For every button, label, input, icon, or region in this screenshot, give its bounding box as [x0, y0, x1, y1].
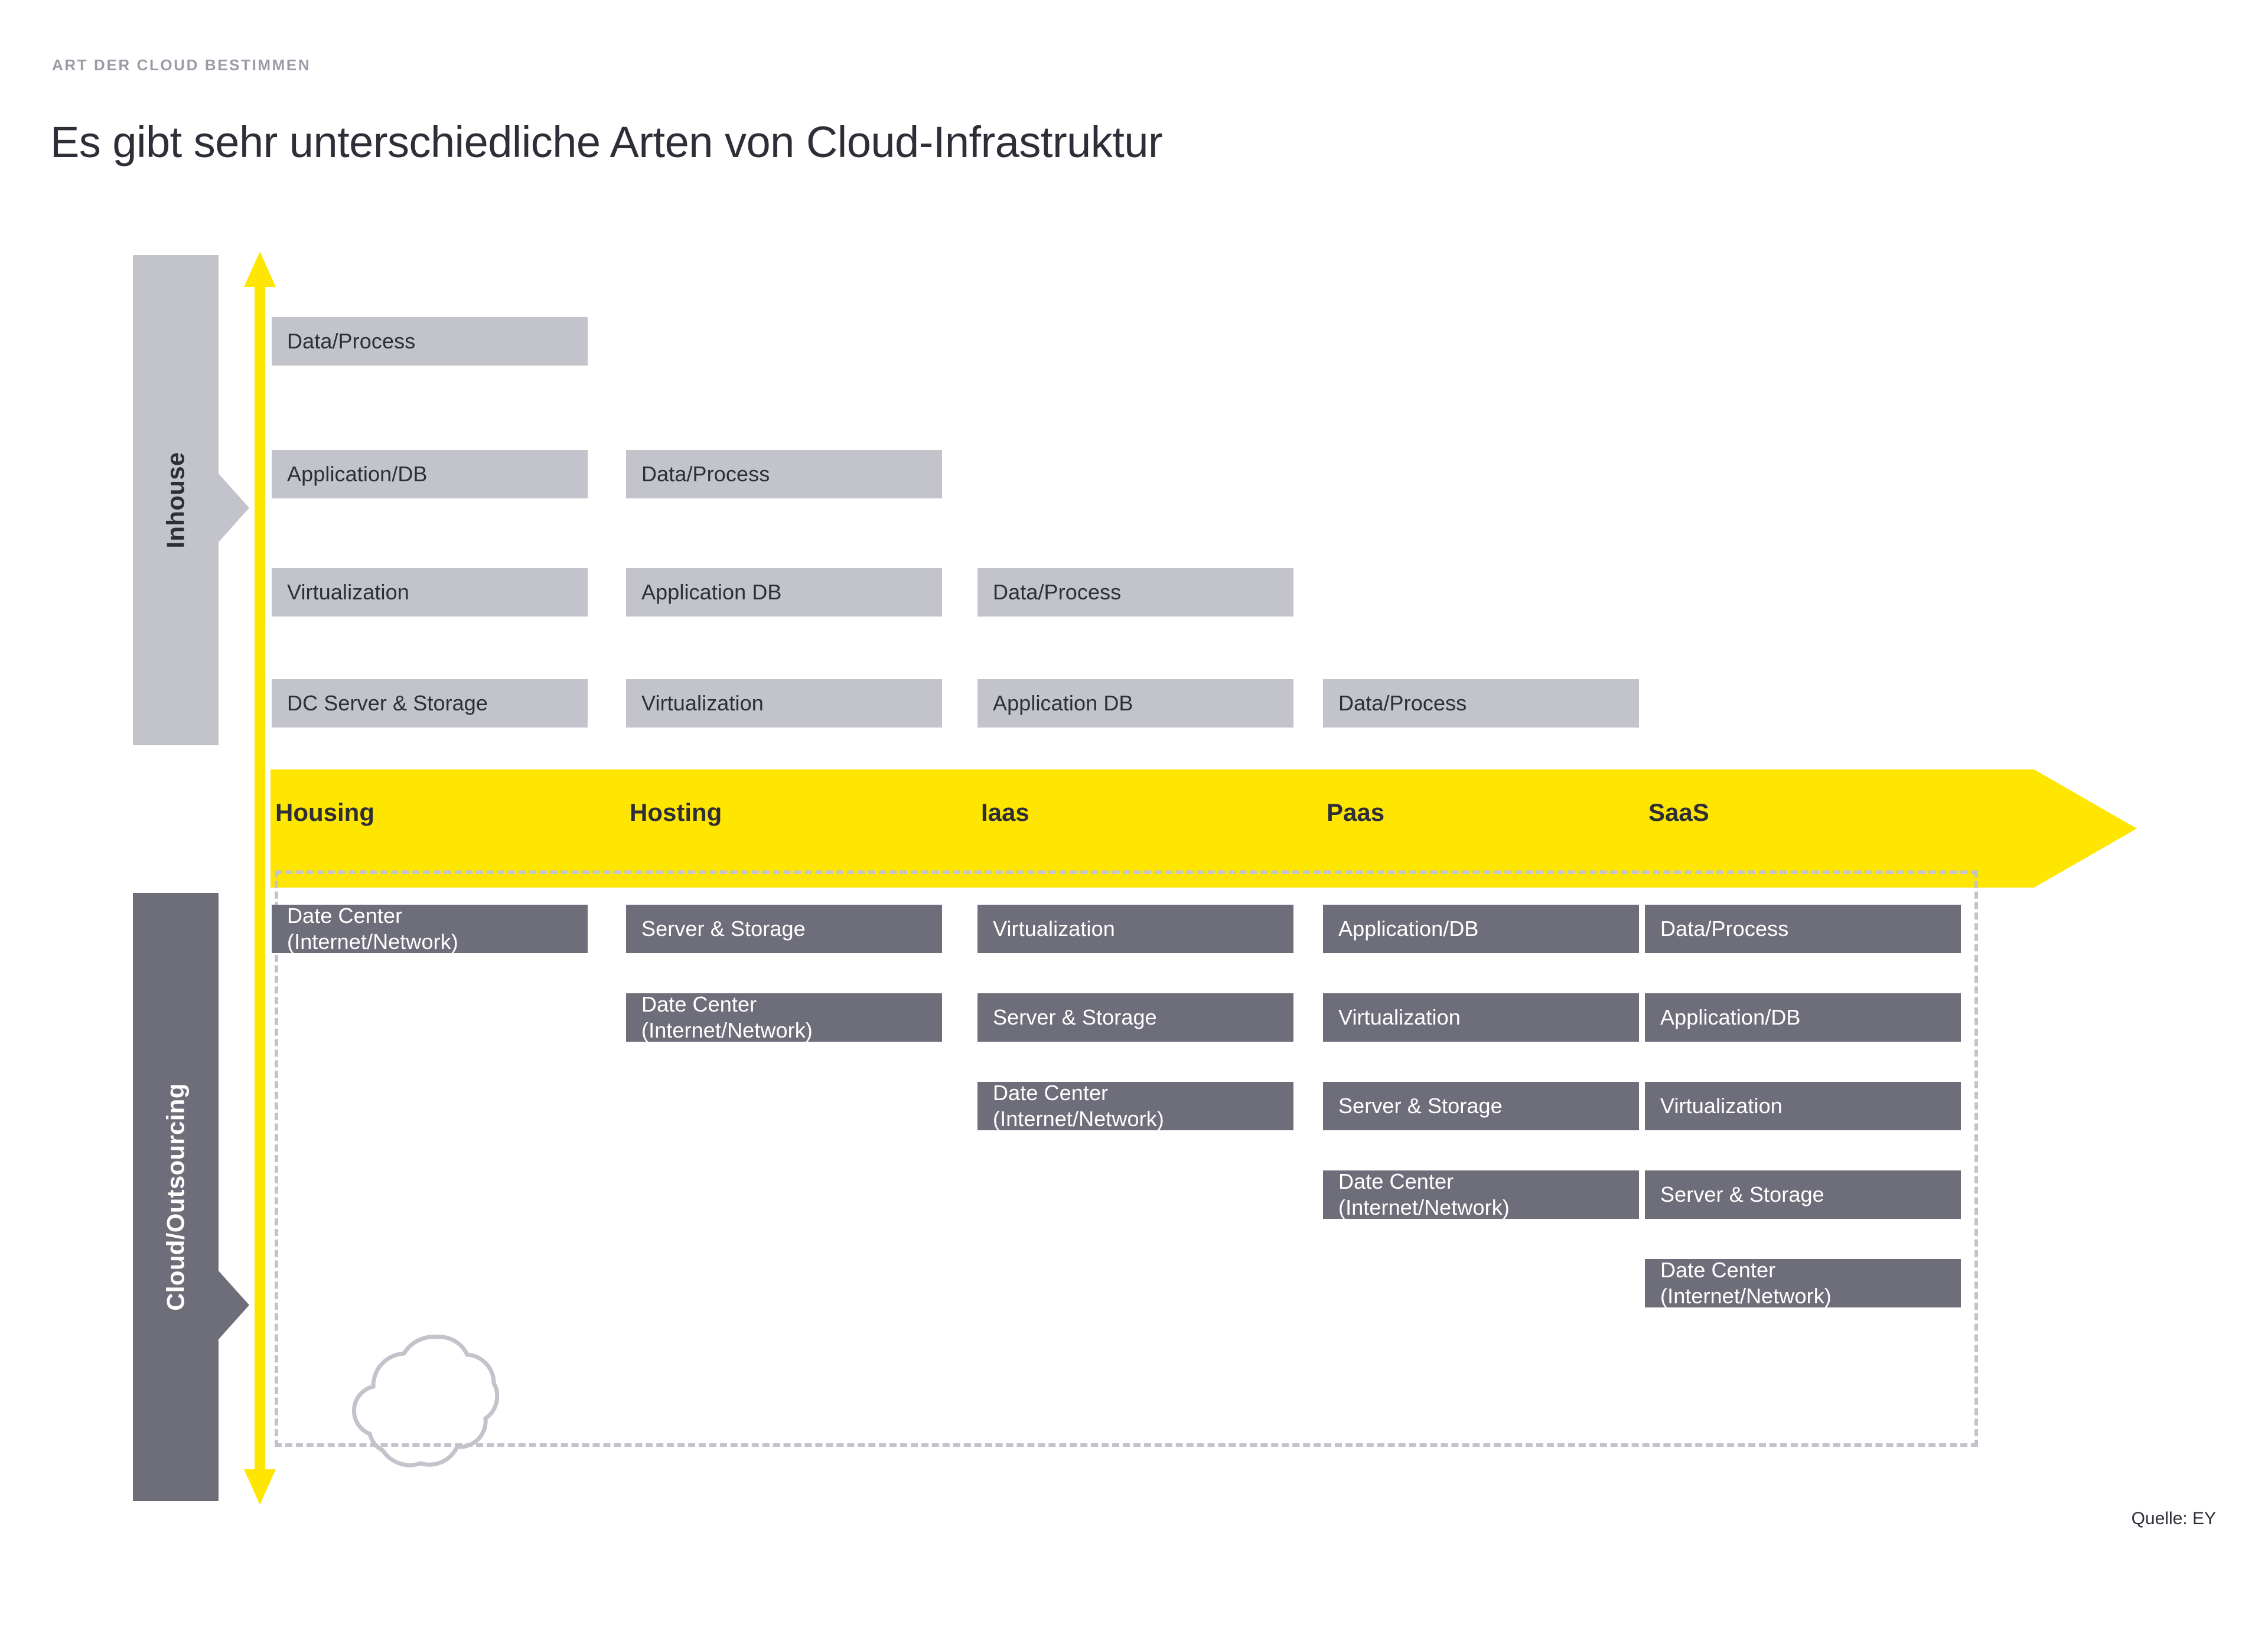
- cloud-layer-box: Date Center(Internet/Network): [1645, 1259, 1961, 1307]
- page-title: Es gibt sehr unterschiedliche Arten von …: [50, 117, 1162, 167]
- cloud-layer-line1: Application/DB: [1660, 1004, 1801, 1030]
- cloud-layer-box: Application/DB: [1645, 993, 1961, 1042]
- cloud-layer-line1: Date Center: [641, 992, 757, 1016]
- cloud-layer-box: Virtualization: [1323, 993, 1639, 1042]
- cloud-layer-box: Date Center(Internet/Network): [977, 1082, 1293, 1130]
- cloud-layer-box: Virtualization: [1645, 1082, 1961, 1130]
- cloud-layer-box: Server & Storage: [977, 993, 1293, 1042]
- cloud-layer-box: Virtualization: [977, 905, 1293, 953]
- slide-canvas: ART DER CLOUD BESTIMMEN Es gibt sehr unt…: [0, 0, 2268, 1647]
- cloud-layer-box: Application/DB: [1323, 905, 1639, 953]
- inhouse-layer-box: DC Server & Storage: [272, 679, 588, 728]
- service-model-label-iaas[interactable]: Iaas: [981, 798, 1029, 827]
- cloud-layer-box: Date Center(Internet/Network): [272, 905, 588, 953]
- service-model-label-saas[interactable]: SaaS: [1648, 798, 1709, 827]
- inhouse-layer-box: Data/Process: [977, 568, 1293, 617]
- cloud-label-text: Cloud/Outsourcing: [162, 1083, 190, 1310]
- source-note: Quelle: EY: [2132, 1509, 2216, 1529]
- cloud-layer-line1: Date Center: [993, 1081, 1108, 1105]
- cloud-layer-line1: Data/Process: [1660, 916, 1788, 942]
- service-model-label-paas[interactable]: Paas: [1327, 798, 1384, 827]
- slide-eyebrow: ART DER CLOUD BESTIMMEN: [52, 56, 311, 74]
- service-model-label-housing[interactable]: Housing: [275, 798, 374, 827]
- inhouse-layer-box: Data/Process: [272, 317, 588, 366]
- cloud-layer-line1: Server & Storage: [993, 1004, 1157, 1030]
- cloud-layer-box: Server & Storage: [1645, 1170, 1961, 1219]
- inhouse-layer-box: Application DB: [977, 679, 1293, 728]
- band-label-cloud: Cloud/Outsourcing: [133, 893, 249, 1501]
- cloud-layer-line2: (Internet/Network): [993, 1107, 1164, 1131]
- inhouse-layer-box: Application/DB: [272, 450, 588, 498]
- inhouse-layer-box: Data/Process: [626, 450, 942, 498]
- cloud-icon: [324, 1333, 530, 1505]
- service-model-arrow-band: [271, 769, 2137, 888]
- cloud-layer-box: Server & Storage: [1323, 1082, 1639, 1130]
- cloud-layer-line2: (Internet/Network): [287, 930, 458, 954]
- inhouse-layer-box: Virtualization: [626, 679, 942, 728]
- cloud-layer-box: Server & Storage: [626, 905, 942, 953]
- cloud-layer-line1: Date Center: [1338, 1169, 1454, 1193]
- inhouse-layer-box: Application DB: [626, 568, 942, 617]
- cloud-layer-line2: (Internet/Network): [1660, 1284, 1832, 1308]
- inhouse-layer-box: Data/Process: [1323, 679, 1639, 728]
- cloud-layer-line2: (Internet/Network): [1338, 1195, 1510, 1219]
- cloud-layer-line2: (Internet/Network): [641, 1018, 813, 1042]
- cloud-layer-line1: Server & Storage: [1660, 1182, 1824, 1208]
- cloud-layer-line1: Virtualization: [993, 916, 1115, 942]
- cloud-layer-line1: Server & Storage: [641, 916, 806, 942]
- cloud-layer-line1: Virtualization: [1338, 1004, 1461, 1030]
- inhouse-label-wrap: Inhouse: [133, 255, 219, 745]
- cloud-layer-line1: Date Center: [1660, 1258, 1775, 1282]
- band-label-inhouse: Inhouse: [133, 255, 249, 745]
- cloud-label-wrap: Cloud/Outsourcing: [133, 893, 219, 1501]
- cloud-layer-line1: Date Center: [287, 904, 402, 928]
- cloud-layer-line1: Server & Storage: [1338, 1093, 1503, 1119]
- service-model-label-hosting[interactable]: Hosting: [630, 798, 722, 827]
- cloud-layer-line1: Virtualization: [1660, 1093, 1783, 1119]
- cloud-layer-box: Date Center(Internet/Network): [1323, 1170, 1639, 1219]
- cloud-layer-line1: Application/DB: [1338, 916, 1479, 942]
- inhouse-label-text: Inhouse: [162, 452, 190, 548]
- cloud-layer-box: Data/Process: [1645, 905, 1961, 953]
- inhouse-layer-box: Virtualization: [272, 568, 588, 617]
- cloud-layer-box: Date Center(Internet/Network): [626, 993, 942, 1042]
